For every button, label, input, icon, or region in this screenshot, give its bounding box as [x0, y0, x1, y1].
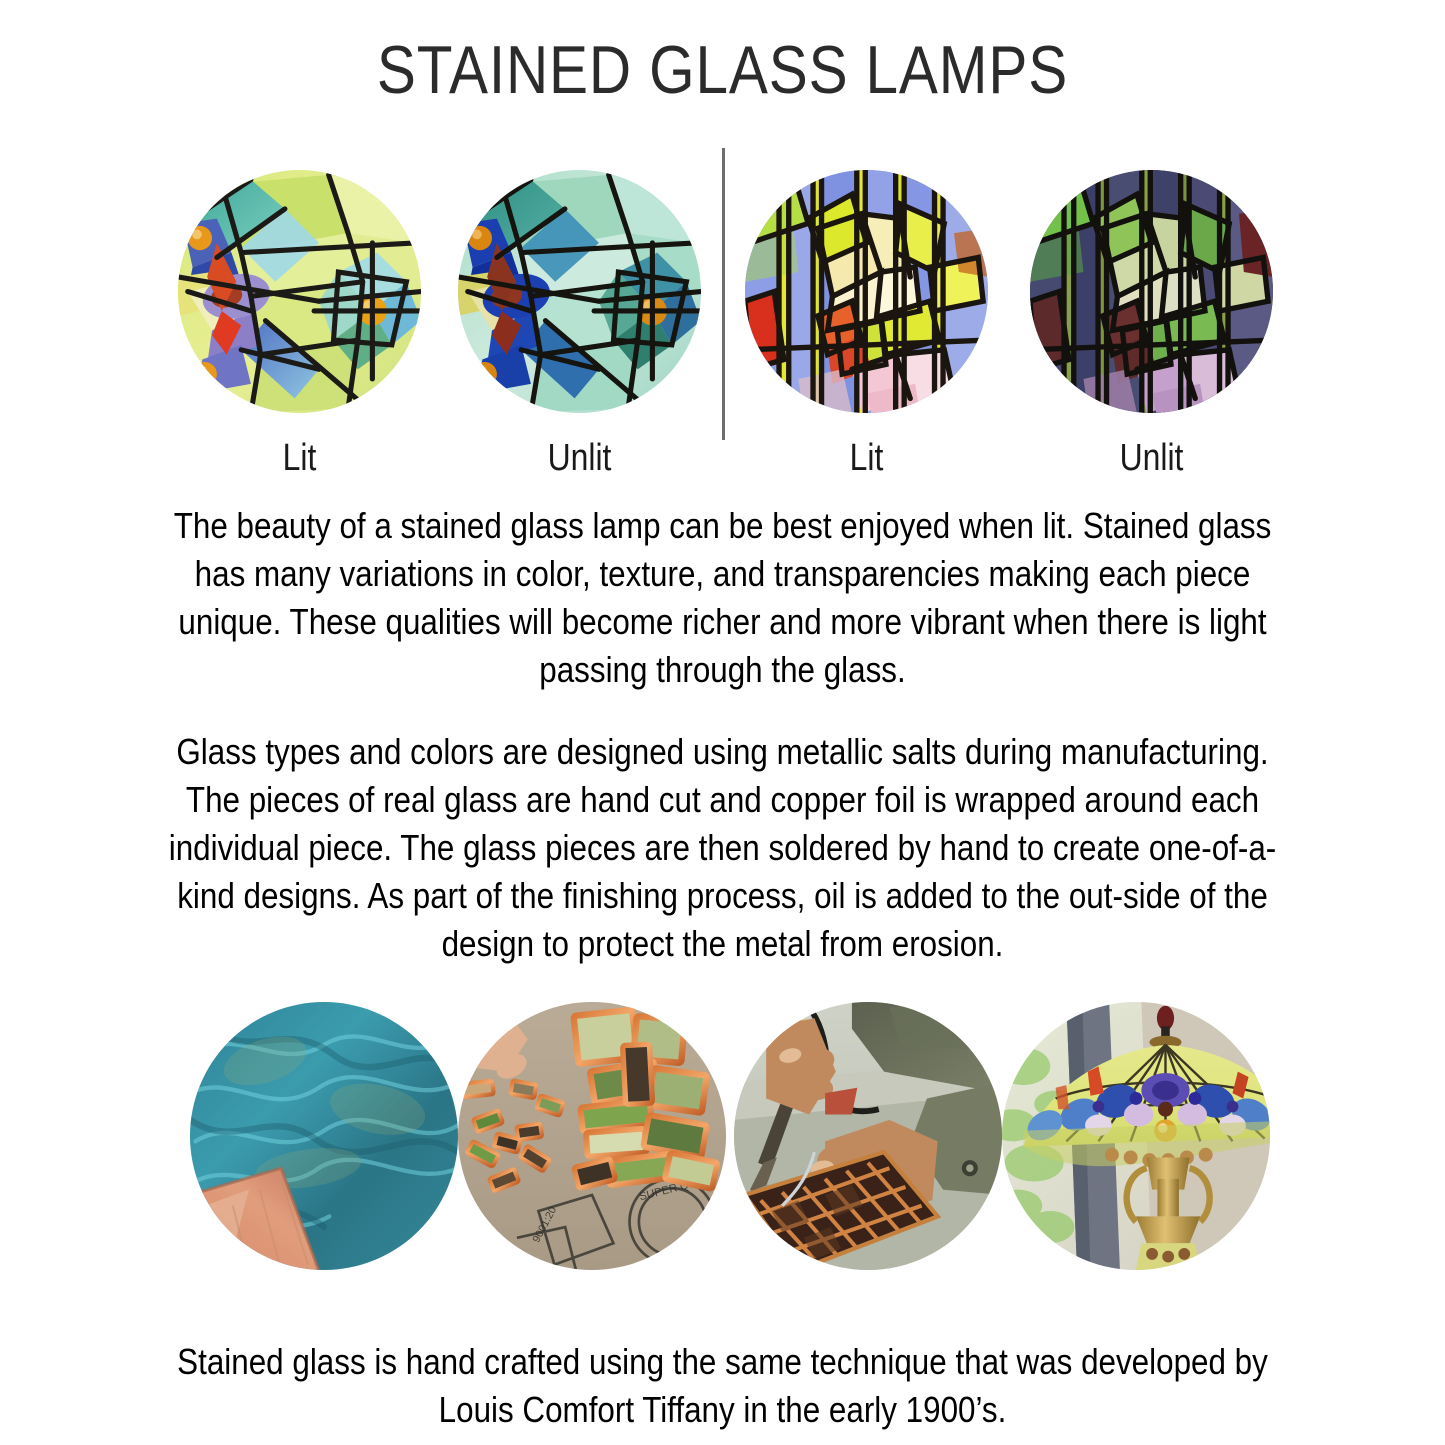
comparison-labels: Lit Unlit Lit Unlit: [0, 436, 1445, 482]
stained-glass-closeup-lit-floral: [745, 170, 988, 413]
lit-unlit-comparison-row: [0, 170, 1445, 422]
label-unlit-floral: Unlit: [1049, 436, 1253, 480]
infographic-page: STAINED GLASS LAMPS: [0, 0, 1445, 1445]
copper-foiling-glass-pieces-photo: SUPER QU 9001:20: [458, 1002, 726, 1270]
label-lit-geometric: Lit: [197, 436, 401, 480]
finished-tiffany-lamp-photo: [1002, 1002, 1270, 1270]
paragraph-beauty-when-lit: The beauty of a stained glass lamp can b…: [148, 502, 1296, 694]
footer-caption: Stained glass is hand crafted using the …: [148, 1338, 1296, 1434]
paragraph-manufacturing-process: Glass types and colors are designed usin…: [148, 728, 1296, 968]
process-photo-row: SUPER QU 9001:20: [0, 1002, 1445, 1272]
stained-glass-closeup-unlit-floral: [1030, 170, 1273, 413]
hand-soldering-panel-photo: [734, 1002, 1002, 1270]
page-title: STAINED GLASS LAMPS: [101, 36, 1344, 104]
vertical-divider: [722, 148, 725, 440]
raw-glass-sheet-photo: [190, 1002, 458, 1270]
stained-glass-closeup-lit-geometric: [178, 170, 421, 413]
stained-glass-closeup-unlit-geometric: [458, 170, 701, 413]
label-lit-floral: Lit: [764, 436, 968, 480]
label-unlit-geometric: Unlit: [477, 436, 681, 480]
